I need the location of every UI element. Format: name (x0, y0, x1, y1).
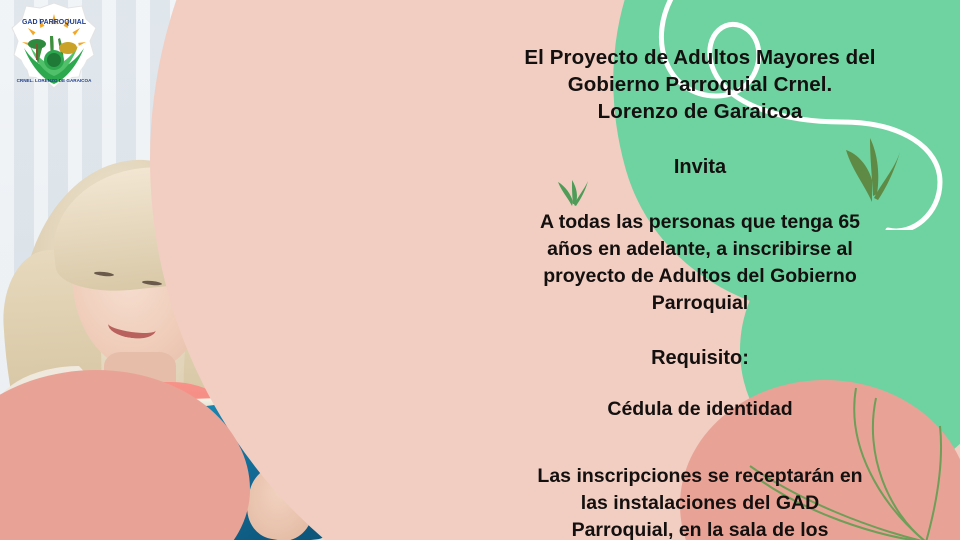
announcement-text-panel: El Proyecto de Adultos Mayores del Gobie… (496, 0, 904, 540)
poster-canvas: GAD PARROQUIAL CRNEL. LORENZO DE GARAICO… (0, 0, 960, 540)
inscription-location: Las inscripciones se receptarán en las i… (496, 463, 904, 540)
footer-line-3: Parroquial, en la sala de los (496, 517, 904, 540)
title-line-2: Gobierno Parroquial Crnel. (496, 71, 904, 98)
invita-text: Invita (496, 156, 904, 179)
logo-top-arc-text: GAD PARROQUIAL (22, 19, 87, 26)
body-line-4: Parroquial (496, 290, 904, 317)
footer-line-1: Las inscripciones se receptarán en (496, 463, 904, 490)
gad-parroquial-logo: GAD PARROQUIAL CRNEL. LORENZO DE GARAICO… (10, 2, 98, 94)
body-line-3: proyecto de Adultos del Gobierno (496, 263, 904, 290)
body-line-1: A todas las personas que tenga 65 (496, 209, 904, 236)
requisito-label-text: Requisito: (496, 347, 904, 370)
title-line-3: Lorenzo de Garaicoa (496, 98, 904, 125)
logo-bottom-arc-text: CRNEL. LORENZO DE GARAICOA (17, 78, 92, 83)
poster-title: El Proyecto de Adultos Mayores del Gobie… (496, 44, 904, 125)
title-line-1: El Proyecto de Adultos Mayores del (496, 44, 904, 71)
body-line-2: años en adelante, a inscribirse al (496, 236, 904, 263)
requisito-value-text: Cédula de identidad (496, 398, 904, 421)
invita-heading: Invita (496, 156, 904, 179)
invitation-body: A todas las personas que tenga 65 años e… (496, 209, 904, 317)
footer-line-2: las instalaciones del GAD (496, 490, 904, 517)
requisito-label: Requisito: (496, 347, 904, 370)
requisito-value: Cédula de identidad (496, 398, 904, 421)
